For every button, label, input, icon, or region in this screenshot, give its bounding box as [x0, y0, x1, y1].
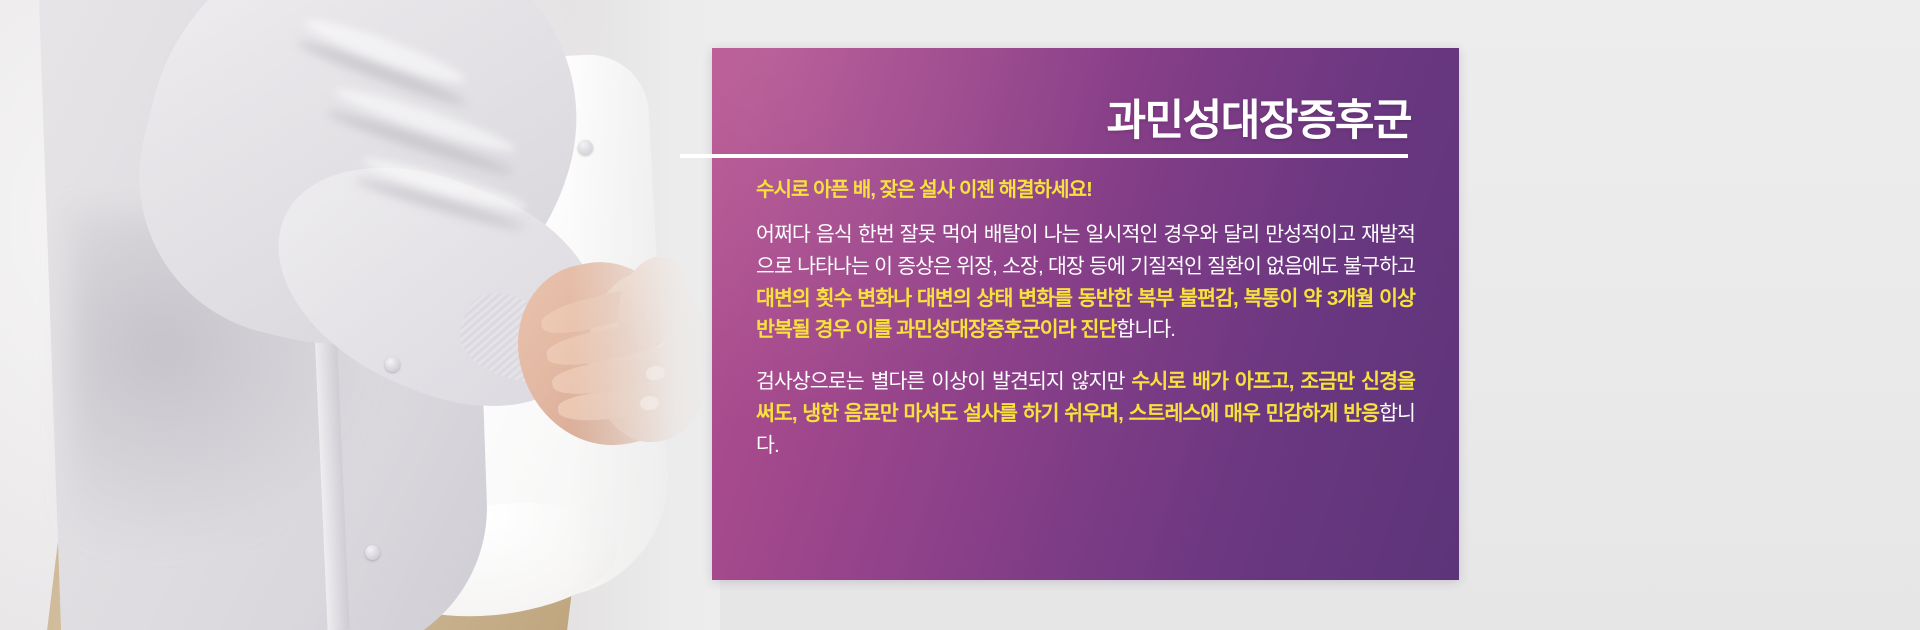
body-text: 검사상으로는 별다른 이상이 발견되지 않지만	[756, 370, 1131, 393]
panel-body: 수시로 아픈 배, 잦은 설사 이젠 해결하세요! 어쩌다 음식 한번 잘못 먹…	[756, 178, 1415, 461]
body-text: 어쩌다 음식 한번 잘못 먹어 배탈이 나는 일시적인 경우와 달리 만성적이고…	[756, 223, 1415, 278]
photo-edge-fade	[570, 0, 720, 630]
lead-headline: 수시로 아픈 배, 잦은 설사 이젠 해결하세요!	[756, 178, 1415, 203]
abdominal-pain-photo	[0, 0, 720, 630]
emphasis-text: 대변의 횟수 변화나 대변의 상태 변화를 동반한 복부 불편감, 복통이 약 …	[756, 287, 1415, 342]
cardigan-button	[385, 357, 400, 372]
info-panel: 과민성대장증후군 수시로 아픈 배, 잦은 설사 이젠 해결하세요! 어쩌다 음…	[712, 48, 1459, 580]
cardigan-button	[365, 545, 380, 560]
page-title: 과민성대장증후군	[1107, 100, 1411, 143]
paragraph-definition: 어쩌다 음식 한번 잘못 먹어 배탈이 나는 일시적인 경우와 달리 만성적이고…	[756, 219, 1415, 346]
ibs-health-banner: 과민성대장증후군 수시로 아픈 배, 잦은 설사 이젠 해결하세요! 어쩌다 음…	[0, 0, 1920, 630]
paragraph-symptoms: 검사상으로는 별다른 이상이 발견되지 않지만 수시로 배가 아프고, 조금만 …	[756, 366, 1415, 461]
body-text: 합니다.	[1116, 318, 1175, 341]
title-divider	[680, 154, 1408, 158]
